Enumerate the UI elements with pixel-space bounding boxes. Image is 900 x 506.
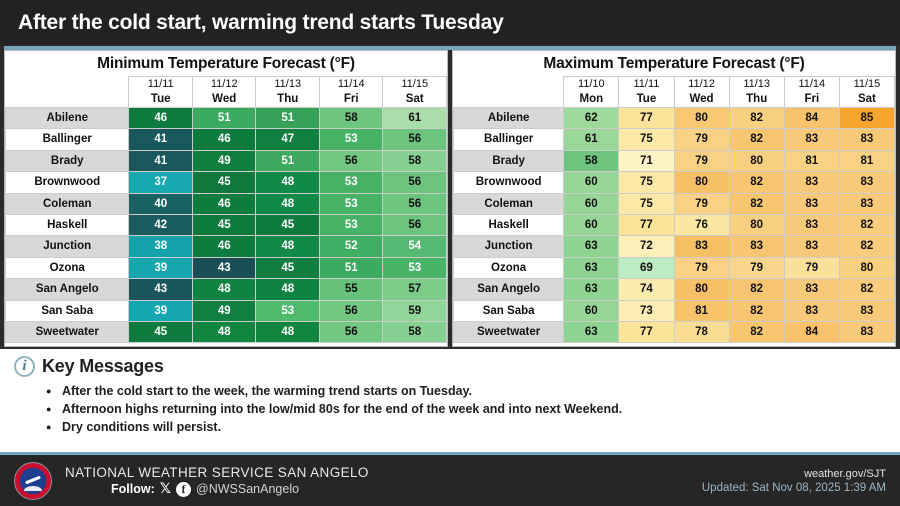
- temperature-cell: 79: [674, 150, 729, 171]
- table-row: Brownwood3745485356: [6, 172, 447, 193]
- temperature-cell: 79: [674, 257, 729, 278]
- min-temp-day-header: Sat: [383, 92, 447, 108]
- table-row: Abilene627780828485: [454, 108, 895, 129]
- temperature-cell: 57: [383, 279, 447, 300]
- table-row: Ballinger617579828383: [454, 129, 895, 150]
- website-url[interactable]: weather.gov/SJT: [702, 468, 886, 480]
- temperature-cell: 63: [564, 257, 619, 278]
- temperature-cell: 83: [784, 300, 839, 321]
- key-messages-title: Key Messages: [42, 356, 164, 377]
- max-temp-day-header: Tue: [619, 92, 674, 108]
- temperature-cell: 58: [564, 150, 619, 171]
- temperature-cell: 82: [839, 215, 894, 236]
- temperature-cell: 75: [619, 129, 674, 150]
- temperature-cell: 60: [564, 172, 619, 193]
- table-row: Brady4149515658: [6, 150, 447, 171]
- min-temp-date-header: 11/11: [129, 77, 193, 93]
- temperature-cell: 74: [619, 279, 674, 300]
- city-name-cell: San Saba: [6, 300, 129, 321]
- temperature-cell: 51: [319, 257, 383, 278]
- temperature-cell: 52: [319, 236, 383, 257]
- temperature-cell: 84: [784, 108, 839, 129]
- key-messages-header: i Key Messages: [14, 356, 900, 377]
- min-temp-day-header: Wed: [192, 92, 256, 108]
- updated-timestamp: Updated: Sat Nov 08, 2025 1:39 AM: [702, 482, 886, 494]
- temperature-cell: 41: [129, 129, 193, 150]
- max-temp-date-header: 11/11: [619, 77, 674, 93]
- table-row: Ballinger4146475356: [6, 129, 447, 150]
- footer-office-block: NATIONAL WEATHER SERVICE SAN ANGELO Foll…: [65, 465, 369, 497]
- temperature-cell: 55: [319, 279, 383, 300]
- city-name-cell: Junction: [454, 236, 564, 257]
- temperature-cell: 78: [674, 322, 729, 343]
- temperature-cell: 83: [839, 300, 894, 321]
- min-temp-corner-cell: [6, 77, 129, 108]
- min-temp-panel: Minimum Temperature Forecast (°F) 11/111…: [4, 50, 448, 347]
- temperature-cell: 83: [784, 129, 839, 150]
- table-row: San Angelo4348485557: [6, 279, 447, 300]
- table-row: Junction3846485254: [6, 236, 447, 257]
- table-row: Haskell607776808382: [454, 215, 895, 236]
- temperature-cell: 61: [383, 108, 447, 129]
- city-name-cell: Sweetwater: [6, 322, 129, 343]
- table-row: Haskell4245455356: [6, 215, 447, 236]
- temperature-cell: 63: [564, 322, 619, 343]
- temperature-cell: 80: [674, 108, 729, 129]
- temperature-cell: 80: [674, 172, 729, 193]
- social-handle[interactable]: @NWSSanAngelo: [196, 482, 299, 496]
- temperature-cell: 79: [729, 257, 784, 278]
- temperature-cell: 60: [564, 215, 619, 236]
- key-message-item: After the cold start to the week, the wa…: [46, 382, 900, 400]
- temperature-cell: 80: [729, 215, 784, 236]
- temperature-cell: 59: [383, 300, 447, 321]
- city-name-cell: Sweetwater: [454, 322, 564, 343]
- temperature-cell: 46: [192, 129, 256, 150]
- temperature-cell: 48: [192, 322, 256, 343]
- table-row: Ozona3943455153: [6, 257, 447, 278]
- table-row: Sweetwater4548485658: [6, 322, 447, 343]
- temperature-cell: 75: [619, 172, 674, 193]
- temperature-cell: 48: [256, 172, 320, 193]
- footer-bar: NATIONAL WEATHER SERVICE SAN ANGELO Foll…: [0, 452, 900, 506]
- temperature-cell: 69: [619, 257, 674, 278]
- temperature-cell: 48: [256, 322, 320, 343]
- temperature-cell: 83: [729, 236, 784, 257]
- temperature-cell: 51: [256, 108, 320, 129]
- city-name-cell: Brownwood: [6, 172, 129, 193]
- min-temp-date-header: 11/13: [256, 77, 320, 93]
- temperature-cell: 83: [839, 193, 894, 214]
- max-temp-date-header: 11/13: [729, 77, 784, 93]
- temperature-cell: 77: [619, 108, 674, 129]
- temperature-cell: 82: [729, 193, 784, 214]
- table-row: Abilene4651515861: [6, 108, 447, 129]
- temperature-cell: 53: [319, 172, 383, 193]
- temperature-cell: 83: [784, 279, 839, 300]
- city-name-cell: Coleman: [454, 193, 564, 214]
- city-name-cell: Coleman: [6, 193, 129, 214]
- page-title: After the cold start, warming trend star…: [0, 11, 504, 35]
- min-temp-day-header: Fri: [319, 92, 383, 108]
- headline-bar: After the cold start, warming trend star…: [0, 0, 900, 45]
- max-temp-table: 11/1011/1111/1211/1311/1411/15MonTueWedT…: [453, 76, 895, 343]
- temperature-cell: 80: [729, 150, 784, 171]
- temperature-cell: 83: [784, 236, 839, 257]
- nws-seal-logo: [14, 462, 52, 500]
- temperature-cell: 82: [839, 236, 894, 257]
- min-temp-date-header: 11/14: [319, 77, 383, 93]
- temperature-cell: 49: [192, 300, 256, 321]
- temperature-cell: 53: [256, 300, 320, 321]
- temperature-cell: 45: [192, 215, 256, 236]
- temperature-cell: 63: [564, 279, 619, 300]
- max-temp-day-header: Thu: [729, 92, 784, 108]
- temperature-cell: 79: [784, 257, 839, 278]
- facebook-icon[interactable]: f: [176, 482, 191, 497]
- max-temp-panel: Maximum Temperature Forecast (°F) 11/101…: [452, 50, 896, 347]
- temperature-cell: 45: [129, 322, 193, 343]
- table-row: Brownwood607580828383: [454, 172, 895, 193]
- temperature-cell: 58: [319, 108, 383, 129]
- min-temp-day-header: Tue: [129, 92, 193, 108]
- weather-graphic: After the cold start, warming trend star…: [0, 0, 900, 506]
- temperature-cell: 56: [319, 322, 383, 343]
- follow-label: Follow:: [111, 482, 155, 496]
- temperature-cell: 54: [383, 236, 447, 257]
- temperature-cell: 37: [129, 172, 193, 193]
- temperature-cell: 40: [129, 193, 193, 214]
- temperature-cell: 81: [674, 300, 729, 321]
- temperature-cell: 80: [674, 279, 729, 300]
- temperature-cell: 83: [784, 215, 839, 236]
- key-messages-list: After the cold start to the week, the wa…: [46, 382, 900, 436]
- temperature-cell: 53: [319, 129, 383, 150]
- temperature-cell: 83: [839, 172, 894, 193]
- temperature-cell: 41: [129, 150, 193, 171]
- city-name-cell: Junction: [6, 236, 129, 257]
- min-temp-panel-title: Minimum Temperature Forecast (°F): [5, 51, 447, 76]
- temperature-cell: 77: [619, 322, 674, 343]
- temperature-cell: 48: [192, 279, 256, 300]
- temperature-cell: 39: [129, 257, 193, 278]
- temperature-cell: 56: [319, 300, 383, 321]
- temperature-cell: 51: [192, 108, 256, 129]
- temperature-cell: 79: [674, 129, 729, 150]
- temperature-cell: 56: [383, 193, 447, 214]
- temperature-cell: 46: [129, 108, 193, 129]
- temperature-cell: 58: [383, 322, 447, 343]
- temperature-cell: 43: [192, 257, 256, 278]
- min-temp-date-header: 11/12: [192, 77, 256, 93]
- key-message-item: Dry conditions will persist.: [46, 418, 900, 436]
- city-name-cell: Ozona: [454, 257, 564, 278]
- temperature-cell: 47: [256, 129, 320, 150]
- temperature-cell: 82: [729, 279, 784, 300]
- temperature-cell: 62: [564, 108, 619, 129]
- temperature-cell: 60: [564, 193, 619, 214]
- temperature-cell: 79: [674, 193, 729, 214]
- max-temp-date-header: 11/12: [674, 77, 729, 93]
- key-message-item: Afternoon highs returning into the low/m…: [46, 400, 900, 418]
- city-name-cell: Abilene: [454, 108, 564, 129]
- temperature-cell: 82: [729, 129, 784, 150]
- temperature-cell: 82: [729, 322, 784, 343]
- temperature-cell: 83: [674, 236, 729, 257]
- max-temp-day-header: Wed: [674, 92, 729, 108]
- city-name-cell: Haskell: [6, 215, 129, 236]
- max-temp-date-header: 11/14: [784, 77, 839, 93]
- temperature-cell: 73: [619, 300, 674, 321]
- temperature-cell: 60: [564, 300, 619, 321]
- temperature-cell: 53: [319, 193, 383, 214]
- temperature-cell: 63: [564, 236, 619, 257]
- temperature-cell: 82: [729, 300, 784, 321]
- city-name-cell: San Angelo: [6, 279, 129, 300]
- max-temp-date-header: 11/10: [564, 77, 619, 93]
- temperature-cell: 81: [784, 150, 839, 171]
- info-icon: i: [14, 356, 35, 377]
- temperature-cell: 56: [383, 129, 447, 150]
- temperature-cell: 82: [729, 108, 784, 129]
- table-row: Brady587179808181: [454, 150, 895, 171]
- temperature-cell: 77: [619, 215, 674, 236]
- temperature-cell: 45: [256, 257, 320, 278]
- temperature-cell: 39: [129, 300, 193, 321]
- city-name-cell: Brownwood: [454, 172, 564, 193]
- city-name-cell: Brady: [6, 150, 129, 171]
- temperature-cell: 53: [319, 215, 383, 236]
- temperature-cell: 38: [129, 236, 193, 257]
- temperature-cell: 71: [619, 150, 674, 171]
- table-row: San Angelo637480828382: [454, 279, 895, 300]
- city-name-cell: Brady: [454, 150, 564, 171]
- temperature-cell: 49: [192, 150, 256, 171]
- office-name: NATIONAL WEATHER SERVICE SAN ANGELO: [65, 465, 369, 480]
- city-name-cell: Ozona: [6, 257, 129, 278]
- city-name-cell: Haskell: [454, 215, 564, 236]
- temperature-cell: 51: [256, 150, 320, 171]
- temperature-cell: 53: [383, 257, 447, 278]
- temperature-cell: 82: [839, 279, 894, 300]
- temperature-cell: 80: [839, 257, 894, 278]
- min-temp-date-header: 11/15: [383, 77, 447, 93]
- temperature-cell: 48: [256, 279, 320, 300]
- temperature-cell: 46: [192, 236, 256, 257]
- max-temp-day-header: Sat: [839, 92, 894, 108]
- min-temp-day-header: Thu: [256, 92, 320, 108]
- temperature-cell: 82: [729, 172, 784, 193]
- temperature-cell: 83: [784, 193, 839, 214]
- temperature-cell: 43: [129, 279, 193, 300]
- temperature-cell: 84: [784, 322, 839, 343]
- temperature-cell: 81: [839, 150, 894, 171]
- x-twitter-icon[interactable]: 𝕏: [160, 482, 171, 496]
- table-row: San Saba607381828383: [454, 300, 895, 321]
- city-name-cell: Ballinger: [454, 129, 564, 150]
- max-temp-date-header: 11/15: [839, 77, 894, 93]
- temperature-cell: 48: [256, 193, 320, 214]
- temperature-cell: 83: [839, 129, 894, 150]
- min-temp-table: 11/1111/1211/1311/1411/15TueWedThuFriSat…: [5, 76, 447, 343]
- temperature-cell: 83: [839, 322, 894, 343]
- temperature-cell: 45: [192, 172, 256, 193]
- table-row: Coleman4046485356: [6, 193, 447, 214]
- city-name-cell: Abilene: [6, 108, 129, 129]
- city-name-cell: San Saba: [454, 300, 564, 321]
- temperature-cell: 56: [383, 172, 447, 193]
- table-row: San Saba3949535659: [6, 300, 447, 321]
- table-row: Ozona636979797980: [454, 257, 895, 278]
- max-temp-panel-title: Maximum Temperature Forecast (°F): [453, 51, 895, 76]
- temperature-cell: 83: [784, 172, 839, 193]
- temperature-cell: 56: [383, 215, 447, 236]
- max-temp-day-header: Fri: [784, 92, 839, 108]
- temperature-cell: 76: [674, 215, 729, 236]
- temperature-cell: 85: [839, 108, 894, 129]
- city-name-cell: San Angelo: [454, 279, 564, 300]
- temperature-cell: 56: [319, 150, 383, 171]
- temperature-cell: 45: [256, 215, 320, 236]
- temperature-cell: 61: [564, 129, 619, 150]
- temperature-cell: 75: [619, 193, 674, 214]
- temperature-cell: 48: [256, 236, 320, 257]
- table-row: Coleman607579828383: [454, 193, 895, 214]
- temperature-cell: 46: [192, 193, 256, 214]
- max-temp-corner-cell: [454, 77, 564, 108]
- key-messages-section: i Key Messages After the cold start to t…: [0, 349, 900, 452]
- max-temp-day-header: Mon: [564, 92, 619, 108]
- temperature-cell: 72: [619, 236, 674, 257]
- table-row: Sweetwater637778828483: [454, 322, 895, 343]
- city-name-cell: Ballinger: [6, 129, 129, 150]
- temperature-cell: 58: [383, 150, 447, 171]
- forecast-tables: Minimum Temperature Forecast (°F) 11/111…: [0, 50, 900, 347]
- table-row: Junction637283838382: [454, 236, 895, 257]
- follow-line: Follow: 𝕏 f @NWSSanAngelo: [65, 482, 369, 497]
- temperature-cell: 42: [129, 215, 193, 236]
- footer-meta: weather.gov/SJT Updated: Sat Nov 08, 202…: [702, 468, 886, 494]
